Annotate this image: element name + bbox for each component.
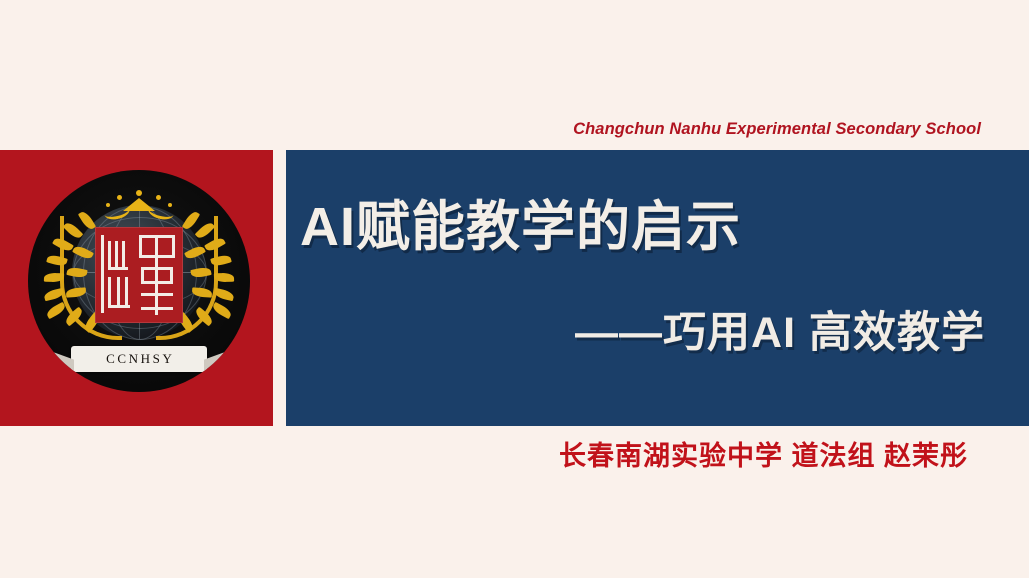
crown-dot bbox=[117, 195, 122, 200]
seal-stroke bbox=[108, 305, 130, 308]
seal-stroke bbox=[101, 235, 104, 313]
seal-stroke bbox=[122, 241, 125, 267]
crown-dot bbox=[156, 195, 161, 200]
school-crest-icon: CCNHSY bbox=[28, 170, 250, 392]
crest-banner-text: CCNHSY bbox=[71, 351, 207, 367]
seal-stroke bbox=[172, 235, 175, 257]
seal-stroke bbox=[141, 307, 173, 310]
school-name-english: Changchun Nanhu Experimental Secondary S… bbox=[0, 120, 981, 139]
emblem-panel: CCNHSY bbox=[0, 150, 273, 426]
seal-stroke bbox=[108, 277, 111, 307]
laurel-leaf bbox=[211, 302, 233, 319]
seal-stamp-icon bbox=[95, 227, 183, 323]
seal-stroke bbox=[125, 277, 128, 307]
laurel-leaf bbox=[213, 288, 235, 302]
seal-stroke bbox=[139, 235, 142, 257]
seal-stroke bbox=[155, 235, 158, 315]
crown-dot bbox=[136, 190, 142, 196]
seal-stroke bbox=[141, 293, 173, 296]
crest-banner: CCNHSY bbox=[71, 346, 207, 372]
laurel-leaf bbox=[43, 288, 65, 302]
title-slide: Changchun Nanhu Experimental Secondary S… bbox=[0, 0, 1029, 578]
seal-stroke bbox=[117, 277, 120, 307]
page-subtitle: ——巧用AI 高效教学 bbox=[575, 298, 985, 360]
banner-tail bbox=[204, 352, 224, 379]
seal-stroke bbox=[141, 267, 173, 270]
seal-stroke bbox=[108, 267, 128, 270]
laurel-leaf bbox=[45, 302, 67, 319]
presenter-line: 长春南湖实验中学 道法组 赵茉彤 bbox=[0, 434, 968, 473]
seal-stroke bbox=[108, 241, 111, 267]
page-title: AI赋能教学的启示 bbox=[300, 182, 741, 261]
seal-stroke bbox=[115, 241, 118, 267]
title-panel: AI赋能教学的启示 ——巧用AI 高效教学 bbox=[286, 150, 1029, 426]
seal-stroke bbox=[141, 281, 173, 284]
